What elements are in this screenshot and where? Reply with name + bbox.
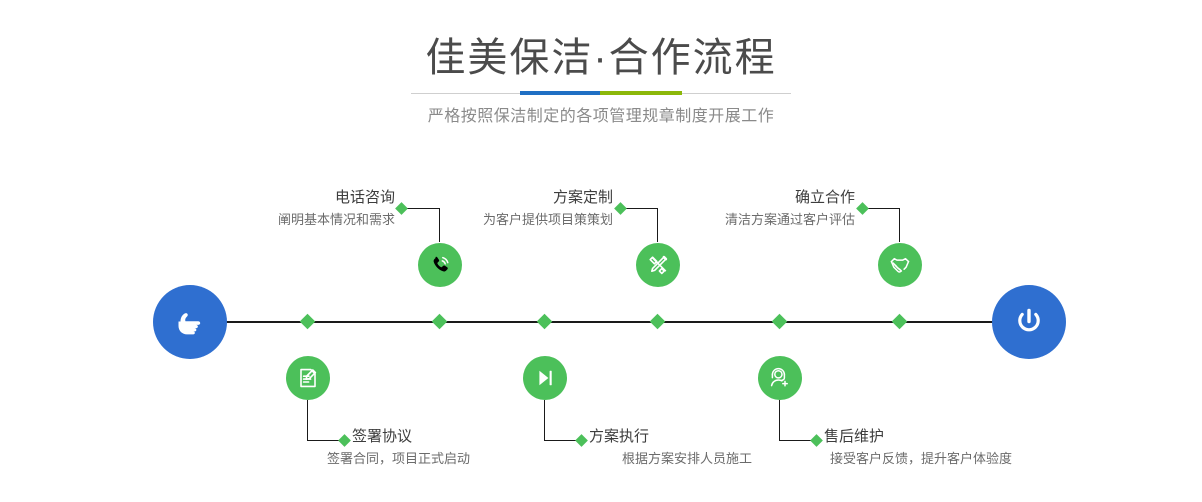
step-label-top-3: 确立合作 清洁方案通过客户评估 [597,188,855,229]
connector-vertical [307,400,308,440]
timeline-end-node[interactable] [992,285,1066,359]
step-node-after-sales[interactable] [758,356,802,400]
pointing-hand-icon [170,302,210,342]
handshake-icon [887,252,913,278]
page-title: 佳美保洁·合作流程 [0,36,1202,80]
page-subtitle: 严格按照保洁制定的各项管理规章制度开展工作 [0,106,1202,128]
step-node-execute-plan[interactable] [523,356,567,400]
step-label-top-2: 方案定制 为客户提供项目策策划 [355,188,613,229]
step-desc: 清洁方案通过客户评估 [597,210,855,229]
step-node-partnership[interactable] [878,243,922,287]
timeline-marker-dot [650,314,666,330]
phone-call-icon [427,252,453,278]
step-desc: 接受客户反馈，提升客户体验度 [830,449,1154,468]
label-pointer-diamond [338,434,351,447]
document-pencil-icon [295,365,321,391]
step-title: 售后维护 [824,427,1154,447]
timeline-marker-dot [432,314,448,330]
timeline-marker-dot [537,314,553,330]
flow-diagram-canvas: 佳美保洁·合作流程 严格按照保洁制定的各项管理规章制度开展工作 [0,0,1202,502]
header-divider-green-segment [600,91,682,95]
play-execute-icon [532,365,558,391]
step-node-plan-design[interactable] [636,243,680,287]
step-title: 确立合作 [597,188,855,208]
connector-vertical [779,400,780,440]
timeline-marker-dot [892,314,908,330]
power-icon [1009,302,1049,342]
step-node-phone-call[interactable] [418,243,462,287]
label-pointer-diamond [856,202,869,215]
step-label-bottom-3: 售后维护 接受客户反馈，提升客户体验度 [824,427,1154,468]
connector-vertical [899,208,900,242]
pencil-ruler-icon [645,252,671,278]
timeline-marker-dot [772,314,788,330]
timeline-marker-dot [300,314,316,330]
header-divider-blue-segment [520,91,600,95]
timeline-start-node[interactable] [153,285,227,359]
step-title: 方案定制 [355,188,613,208]
connector-vertical [544,400,545,440]
step-desc: 为客户提供项目策策划 [355,210,613,229]
step-node-sign-agreement[interactable] [286,356,330,400]
headset-support-icon [767,365,793,391]
